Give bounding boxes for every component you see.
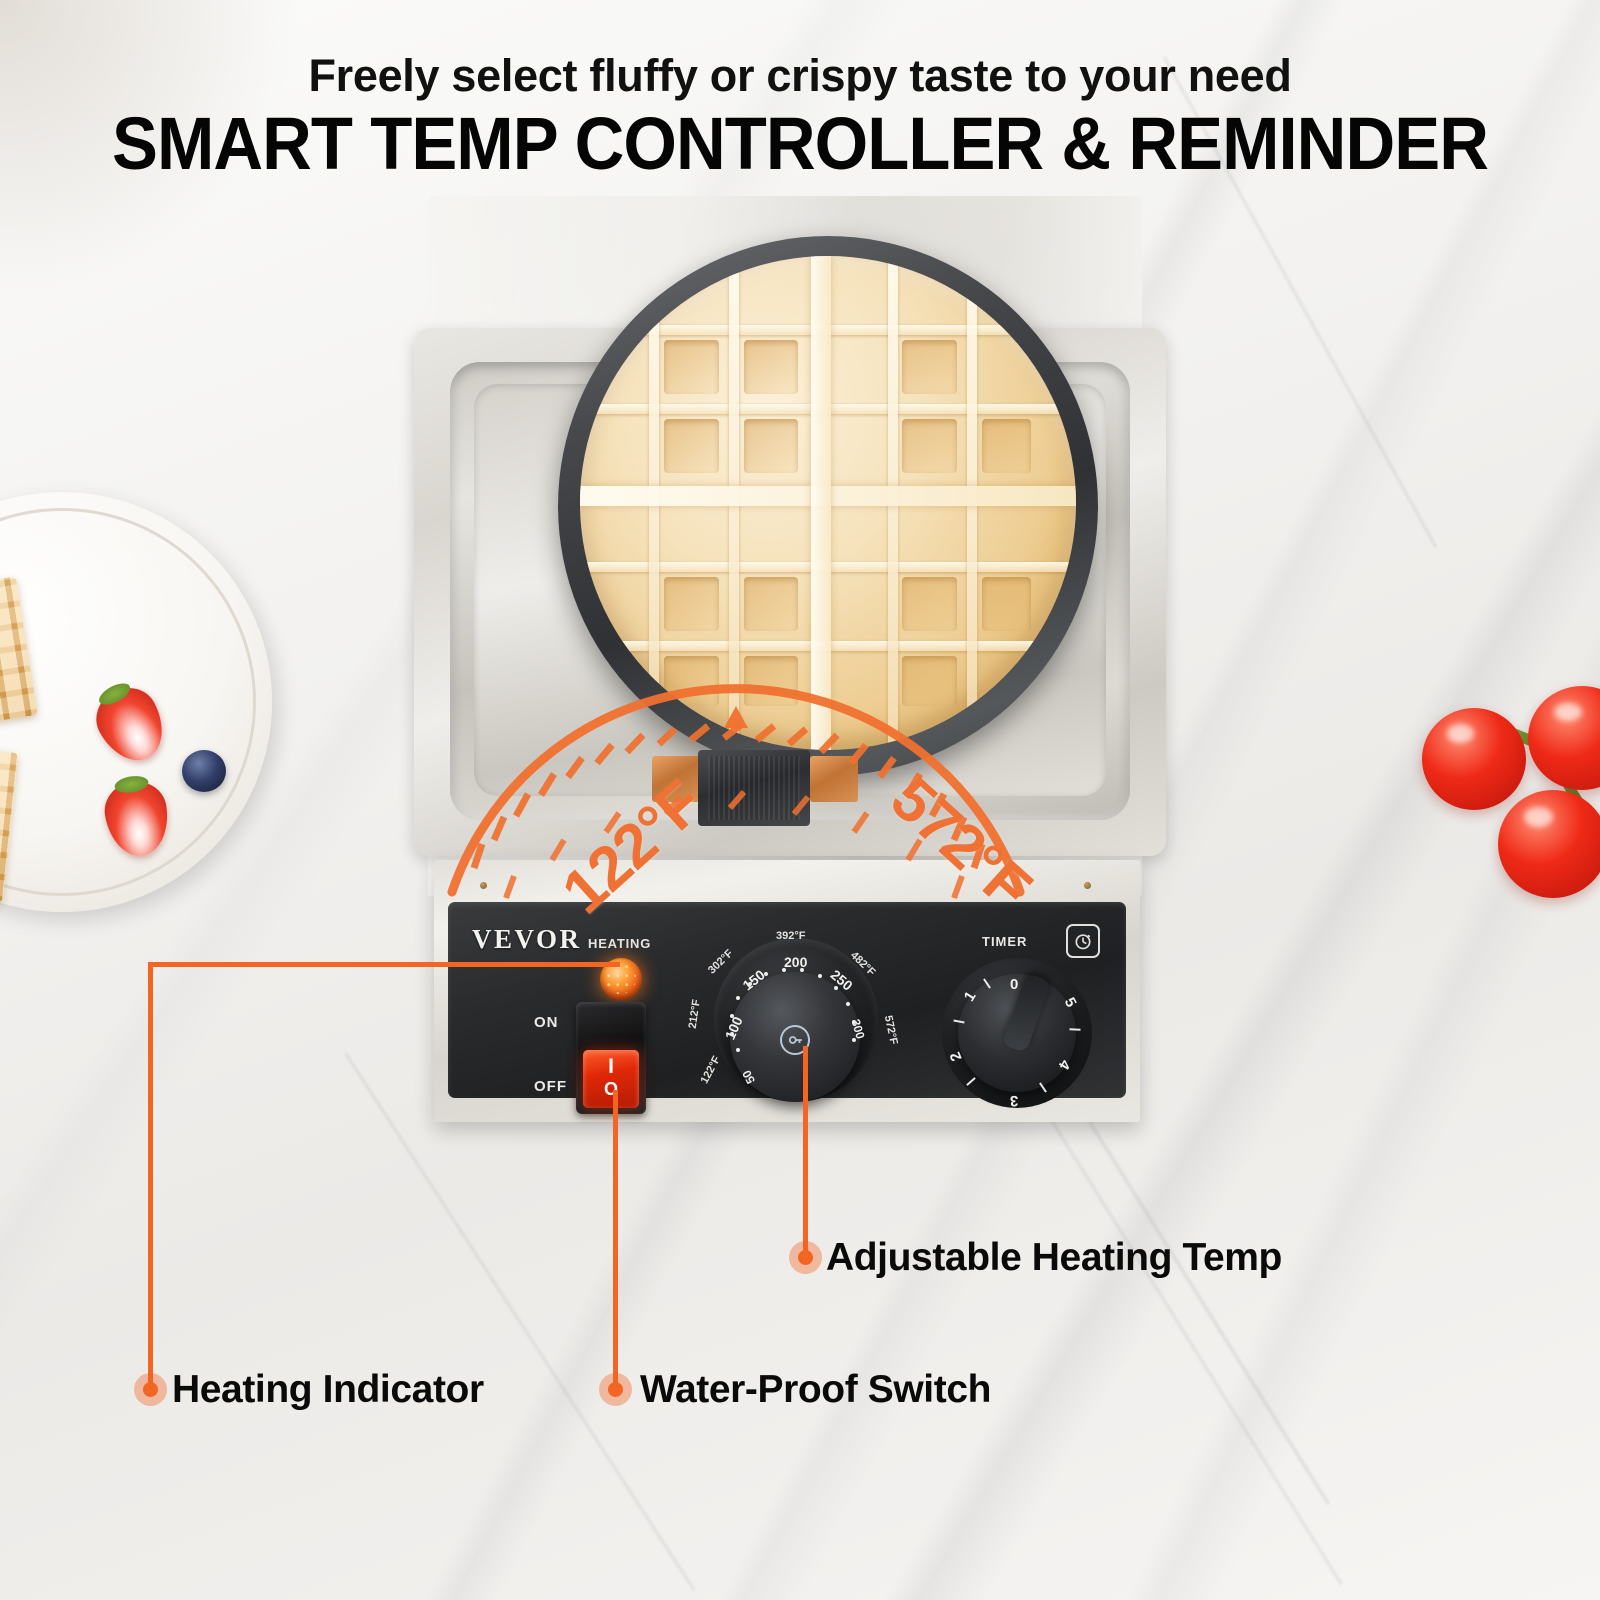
callout-line-heating-indicator (148, 962, 620, 967)
callout-label-water-proof-switch: Water-Proof Switch (640, 1368, 991, 1412)
callout-line-water-proof-switch (613, 1090, 618, 1388)
callout-dot-heating-indicator[interactable] (143, 1382, 158, 1397)
product-marketing-image: Freely select fluffy or crispy taste to … (0, 0, 1600, 1600)
callout-dot-adjustable-heating-temp[interactable] (798, 1250, 813, 1265)
callout-dot-water-proof-switch[interactable] (608, 1382, 623, 1397)
callout-line-adjustable-heating-temp (803, 1046, 808, 1256)
callout-label-adjustable-heating-temp: Adjustable Heating Temp (826, 1236, 1282, 1280)
callout-line-heating-indicator (148, 962, 153, 1388)
callout-label-heating-indicator: Heating Indicator (172, 1368, 484, 1412)
callout-layer: Heating Indicator Water-Proof Switch Adj… (0, 0, 1600, 1600)
